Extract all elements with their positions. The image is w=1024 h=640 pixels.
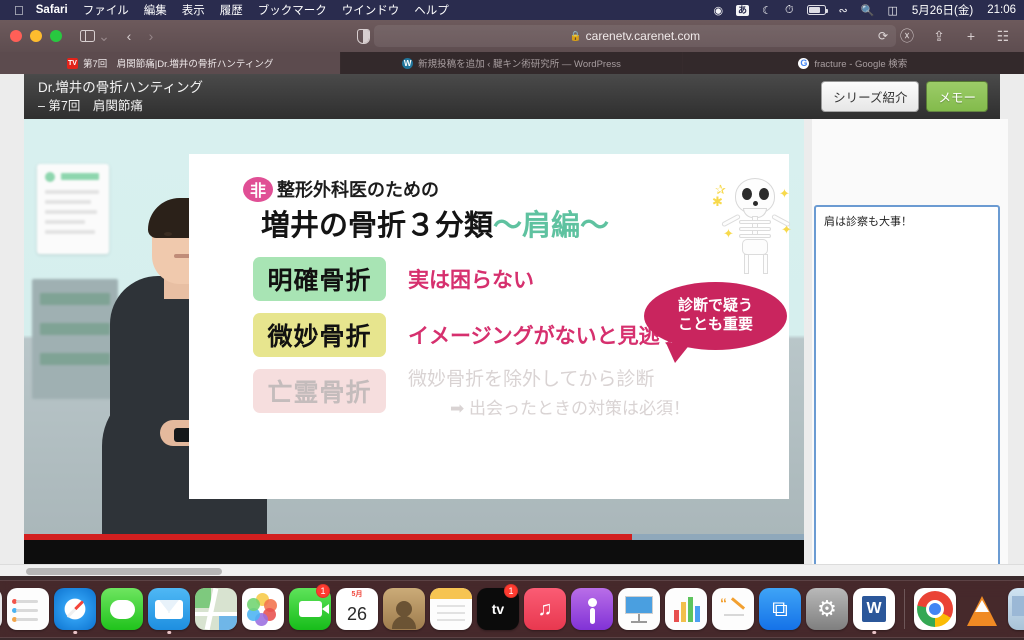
- dock-item-photos[interactable]: [241, 583, 285, 635]
- battery-icon[interactable]: [807, 5, 826, 15]
- page-title: Dr.増井の骨折ハンティング: [38, 78, 821, 98]
- tab-label: fracture - Google 検索: [814, 56, 907, 70]
- dock-item-calendar[interactable]: 5月 26: [335, 583, 379, 635]
- calendar-day: 26: [347, 599, 367, 630]
- slide-eyebrow: 非 整形外科医のための: [243, 176, 439, 202]
- menu-item-file[interactable]: ファイル: [83, 2, 129, 18]
- dock-item-facetime[interactable]: 1: [288, 583, 332, 635]
- menu-item-safari[interactable]: Safari: [36, 4, 68, 16]
- memo-button[interactable]: メモー: [926, 81, 988, 112]
- calendar-month: 5月: [352, 588, 363, 599]
- tab-label: 第7回 肩関節痛|Dr.増井の骨折ハンティング: [83, 56, 273, 70]
- memo-textarea[interactable]: [814, 205, 1000, 576]
- category-chip: 微妙骨折: [253, 313, 386, 357]
- word-glyph: W: [862, 596, 886, 622]
- dock-item-preview[interactable]: [1007, 583, 1024, 635]
- menu-bar:  Safari ファイル 編集 表示 履歴 ブックマーク ウインドウ ヘルプ …: [0, 0, 1024, 20]
- menu-item-window[interactable]: ウインドウ: [342, 2, 400, 18]
- ime-indicator-icon[interactable]: あ: [736, 5, 749, 16]
- dock-item-pages[interactable]: “: [711, 583, 755, 635]
- search-icon[interactable]: 🔍: [861, 4, 875, 17]
- menu-item-edit[interactable]: 編集: [144, 2, 167, 18]
- dock-item-music[interactable]: ♫: [523, 583, 567, 635]
- memo-area: [814, 205, 1000, 576]
- tab-carenetv[interactable]: TV 第7回 肩関節痛|Dr.増井の骨折ハンティング: [0, 52, 341, 74]
- dock-item-appletv[interactable]: tv 1: [476, 583, 520, 635]
- video-stage[interactable]: 非 整形外科医のための 増井の骨折３分類〜肩編〜 明確骨折 実は困らない 微妙骨…: [24, 119, 804, 534]
- menubar-time[interactable]: 21:06: [987, 4, 1016, 16]
- share-icon[interactable]: ⇪: [928, 25, 950, 47]
- wordpress-favicon-icon: W: [402, 58, 413, 69]
- google-favicon-icon: G: [798, 58, 809, 69]
- dock-item-mail[interactable]: [147, 583, 191, 635]
- window-traffic-lights: [10, 30, 62, 42]
- dock-item-safari[interactable]: [53, 583, 97, 635]
- player-header: Dr.増井の骨折ハンティング – 第7回 肩関節痛 シリーズ紹介 メモー: [24, 74, 1000, 119]
- clock-icon[interactable]: ⏱: [785, 4, 794, 17]
- category-row-ghost: 亡霊骨折 微妙骨折を除外してから診断 ➡ 出会ったときの対策は必須！: [253, 369, 702, 413]
- sidebar-icon[interactable]: [76, 25, 98, 47]
- page-subtitle: – 第7回 肩関節痛: [38, 97, 821, 115]
- privacy-shield-icon[interactable]: [352, 25, 374, 47]
- control-center-icon[interactable]: ∾: [839, 4, 848, 17]
- dock-item-launchpad[interactable]: [0, 583, 3, 635]
- tv-favicon-icon: TV: [67, 58, 78, 69]
- menu-item-history[interactable]: 履歴: [220, 2, 243, 18]
- category-row-subtle: 微妙骨折 イメージングがないと見逃す！: [253, 313, 702, 357]
- lock-icon: 🔒: [570, 31, 582, 42]
- dock-item-contacts[interactable]: [382, 583, 426, 635]
- dock-item-numbers[interactable]: [664, 583, 708, 635]
- display-icon[interactable]: ◫: [887, 4, 897, 17]
- facetime-badge: 1: [316, 584, 330, 598]
- url-text: carenetv.carenet.com: [586, 29, 701, 43]
- dock-item-keynote[interactable]: [617, 583, 661, 635]
- menubar-date[interactable]: 5月26日(金): [912, 2, 973, 18]
- menu-item-help[interactable]: ヘルプ: [414, 2, 449, 18]
- player-header-buttons: シリーズ紹介 メモー: [821, 81, 1000, 112]
- page-content: Dr.増井の骨折ハンティング – 第7回 肩関節痛 シリーズ紹介 メモー: [0, 74, 1024, 576]
- bubble-line-2: ことも重要: [678, 316, 753, 335]
- chevron-down-icon[interactable]: ⌄: [98, 25, 110, 47]
- dock-item-system-settings[interactable]: ⚙: [805, 583, 849, 635]
- slide-title-main: 増井の骨折３分類: [261, 210, 493, 242]
- downloads-icon[interactable]: ⓧ: [896, 25, 918, 47]
- dock-item-messages[interactable]: [100, 583, 144, 635]
- dock-item-word[interactable]: W: [852, 583, 896, 635]
- safari-window: ⌄ ‹ › 🔒 carenetv.carenet.com ⟳ ⓧ ⇪ + ☷ T…: [0, 20, 1024, 576]
- slide-title: 増井の骨折３分類〜肩編〜: [261, 202, 609, 244]
- category-chip: 亡霊骨折: [253, 369, 386, 413]
- dock-item-chrome[interactable]: [913, 583, 957, 635]
- player-titles: Dr.増井の骨折ハンティング – 第7回 肩関節痛: [24, 78, 821, 116]
- tab-google-search[interactable]: G fracture - Google 検索: [683, 52, 1024, 74]
- forward-icon: ›: [140, 25, 162, 47]
- safari-toolbar: ⌄ ‹ › 🔒 carenetv.carenet.com ⟳ ⓧ ⇪ + ☷: [0, 20, 1024, 52]
- category-description: 微妙骨折を除外してから診断 ➡ 出会ったときの対策は必須！: [408, 364, 690, 419]
- series-intro-button[interactable]: シリーズ紹介: [821, 81, 919, 112]
- new-tab-icon[interactable]: +: [960, 25, 982, 47]
- dock-area: ☺: [0, 576, 1024, 640]
- slide-title-accent: 〜肩編〜: [493, 210, 609, 242]
- tab-bar: TV 第7回 肩関節痛|Dr.増井の骨折ハンティング W 新規投稿を追加 ‹ 腱…: [0, 52, 1024, 74]
- dock-item-appstore[interactable]: ⧉: [758, 583, 802, 635]
- dock: ☺: [0, 580, 1024, 638]
- screen-root:  Safari ファイル 編集 表示 履歴 ブックマーク ウインドウ ヘルプ …: [0, 0, 1024, 640]
- tab-wordpress[interactable]: W 新規投稿を追加 ‹ 腱キン術研究所 — WordPress: [341, 52, 682, 74]
- dock-item-reminders[interactable]: [6, 583, 50, 635]
- memo-panel: [812, 119, 1008, 574]
- scrollbar-thumb[interactable]: [26, 568, 222, 575]
- toolbar-right-group: ⓧ ⇪ + ☷: [896, 25, 1014, 47]
- music-glyph: ♫: [538, 598, 553, 621]
- menu-item-bookmarks[interactable]: ブックマーク: [258, 2, 327, 18]
- moon-icon[interactable]: ☾: [762, 4, 772, 17]
- dock-item-vlc[interactable]: [960, 583, 1004, 635]
- menu-item-view[interactable]: 表示: [182, 2, 205, 18]
- speech-bubble: 診断で疑う ことも重要: [644, 282, 787, 350]
- apple-menu-icon[interactable]: : [14, 4, 24, 17]
- slide-eyebrow-text: 整形外科医のための: [277, 176, 439, 202]
- minimize-button[interactable]: [30, 30, 42, 42]
- fracture-category-list: 明確骨折 実は困らない 微妙骨折 イメージングがないと見逃す！ 亡霊骨折 微妙骨…: [253, 257, 702, 425]
- close-button[interactable]: [10, 30, 22, 42]
- dock-item-notes[interactable]: [429, 583, 473, 635]
- appletv-badge: 1: [504, 584, 518, 598]
- category-description: 実は困らない: [408, 264, 534, 294]
- dock-item-podcasts[interactable]: [570, 583, 614, 635]
- category-description-line1: 微妙骨折を除外してから診断: [408, 369, 654, 390]
- tab-overview-icon[interactable]: ☷: [992, 25, 1014, 47]
- tab-label: 新規投稿を追加 ‹ 腱キン術研究所 — WordPress: [418, 56, 621, 70]
- appletv-glyph: tv: [492, 601, 504, 617]
- page-horizontal-scrollbar[interactable]: [0, 564, 1024, 576]
- hi-badge: 非: [243, 177, 273, 202]
- maximize-button[interactable]: [50, 30, 62, 42]
- skeleton-mascot-icon: ✰ ✱ ✦ ✦ ✦: [709, 164, 804, 269]
- dock-item-maps[interactable]: [194, 583, 238, 635]
- category-description-line2: ➡ 出会ったときの対策は必須！: [408, 394, 690, 419]
- category-chip: 明確骨折: [253, 257, 386, 301]
- screen-record-icon[interactable]: ◉: [713, 4, 723, 17]
- back-icon[interactable]: ‹: [118, 25, 140, 47]
- dock-divider: [904, 589, 905, 629]
- background-poster: [37, 164, 109, 254]
- address-bar[interactable]: 🔒 carenetv.carenet.com ⟳: [374, 25, 896, 47]
- reload-icon[interactable]: ⟳: [878, 29, 888, 43]
- category-row-clear: 明確骨折 実は困らない: [253, 257, 702, 301]
- lecture-slide: 非 整形外科医のための 増井の骨折３分類〜肩編〜 明確骨折 実は困らない 微妙骨…: [189, 154, 789, 499]
- bubble-line-1: 診断で疑う: [678, 297, 753, 316]
